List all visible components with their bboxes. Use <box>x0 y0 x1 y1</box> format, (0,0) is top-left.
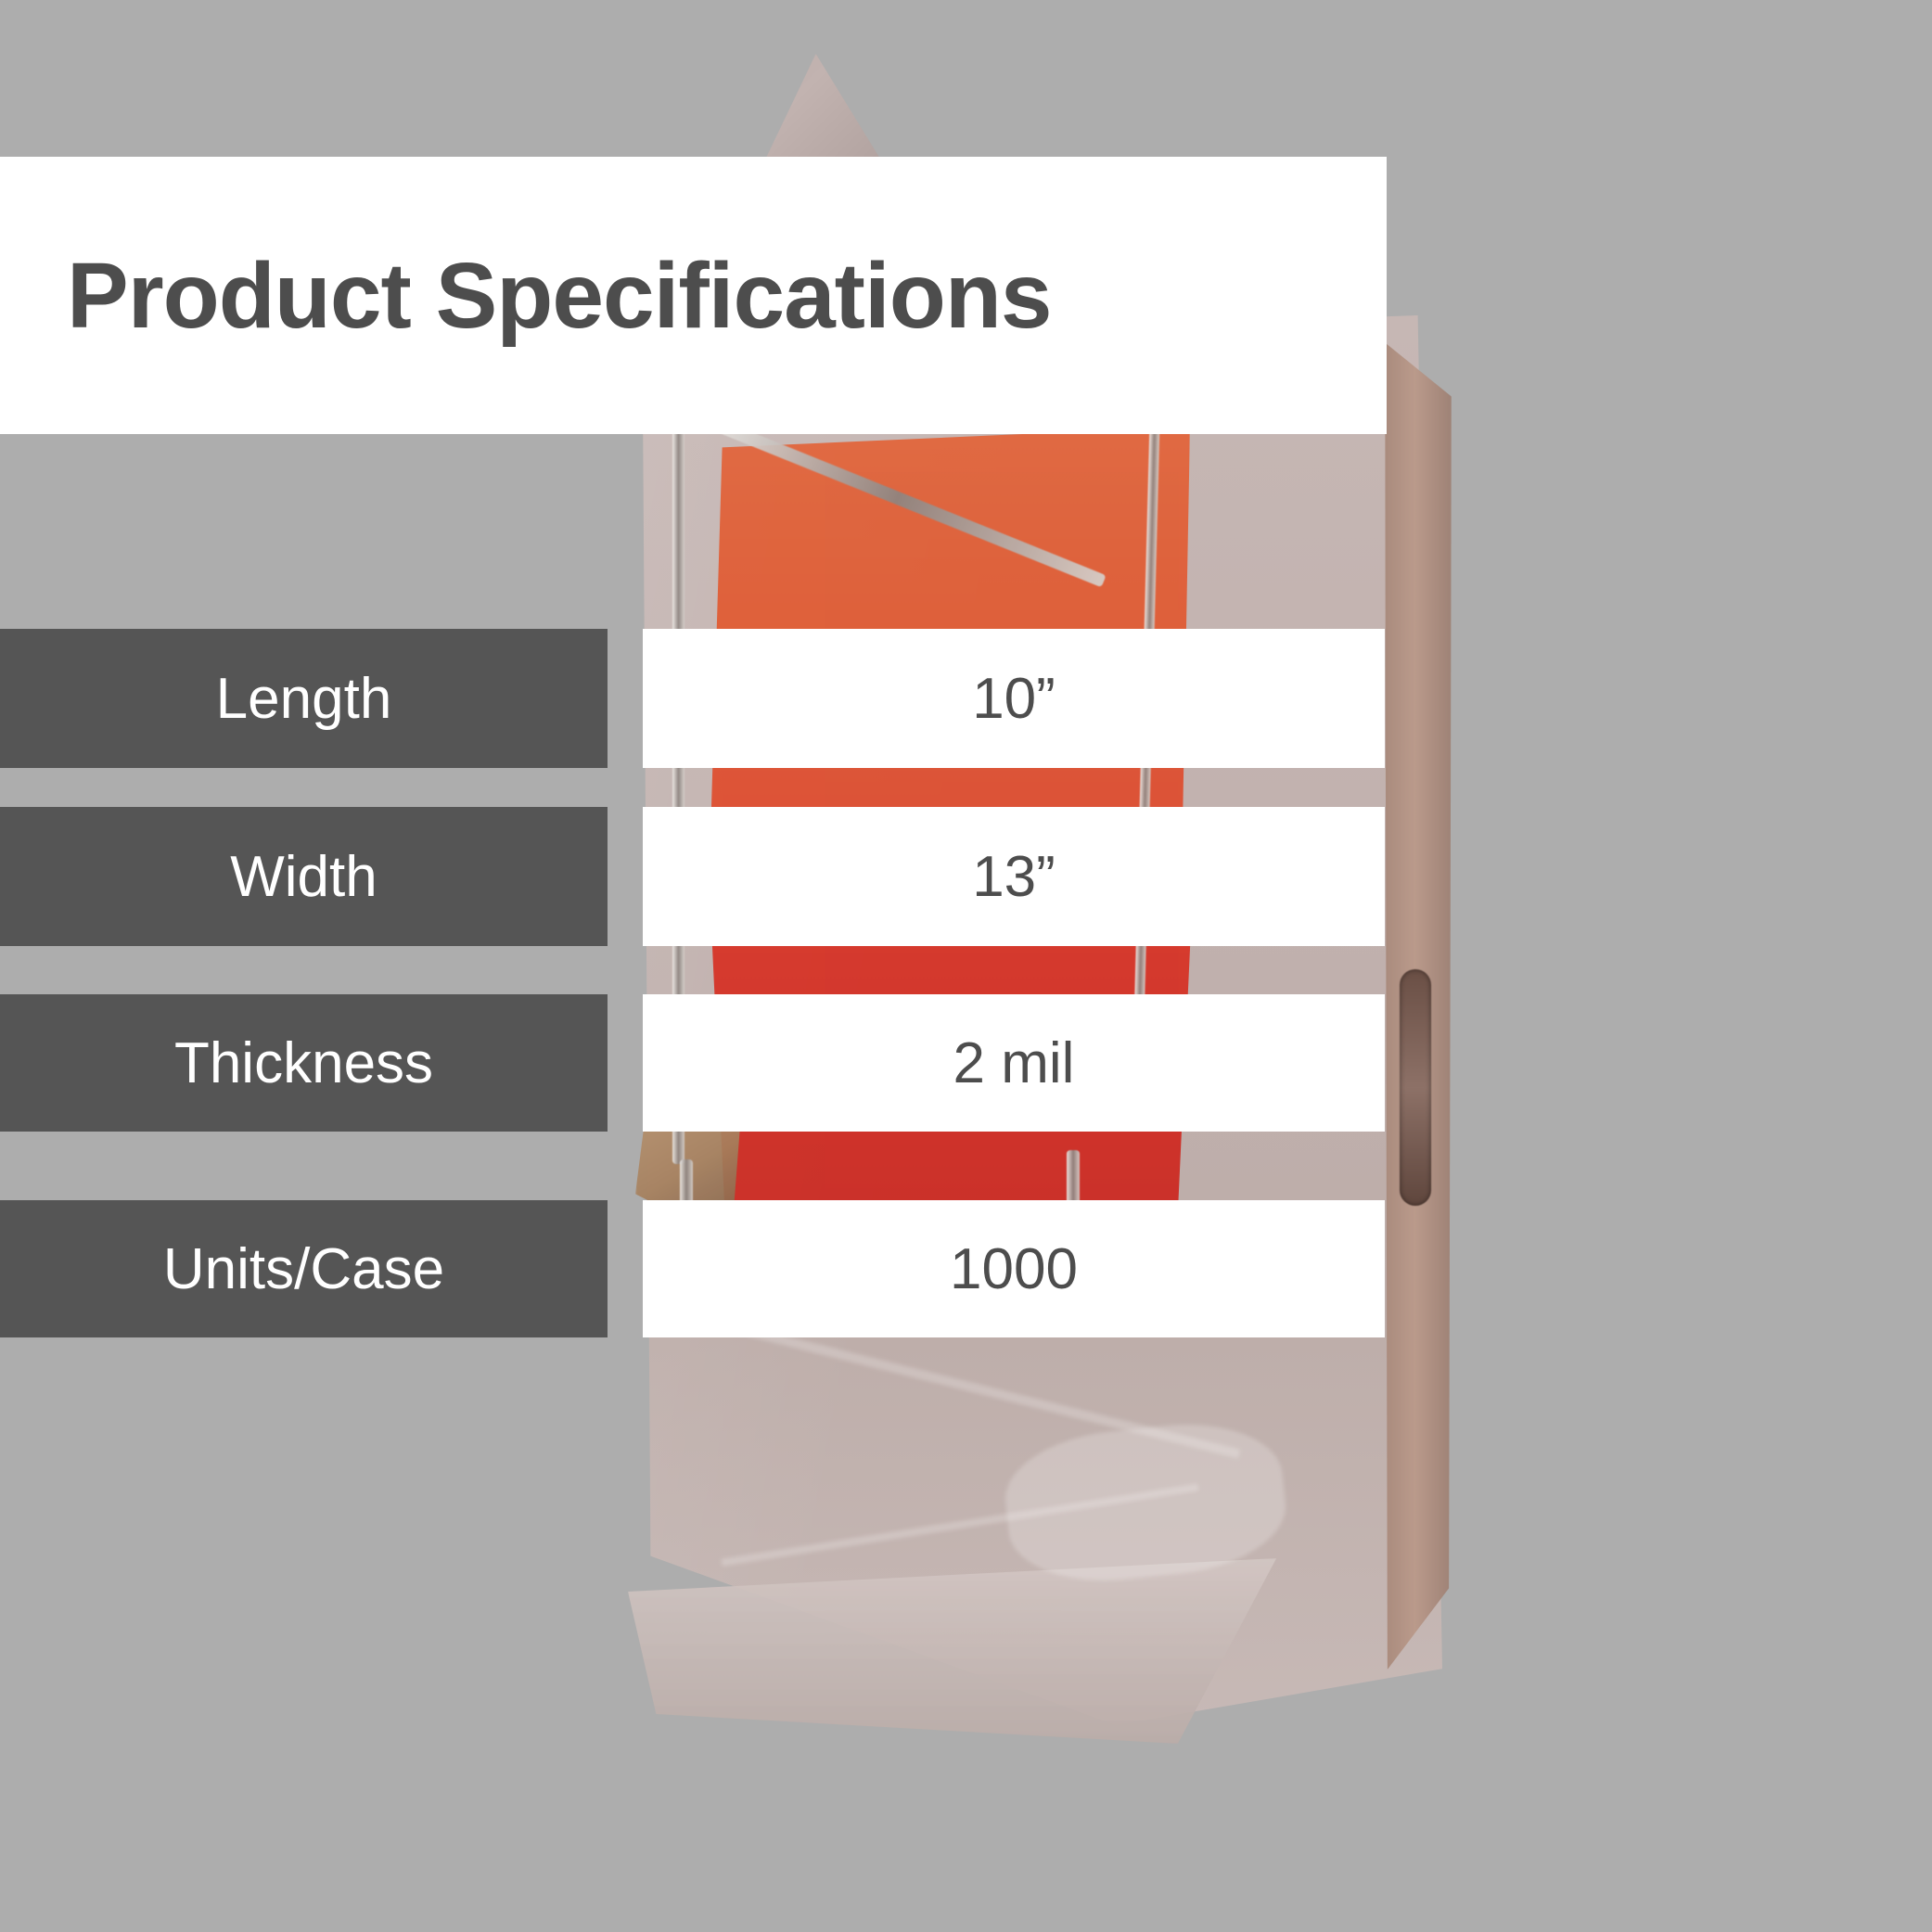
spec-label-units-per-case: Units/Case <box>0 1200 608 1337</box>
spec-value-width: 13” <box>643 807 1385 946</box>
spec-label-width: Width <box>0 807 608 946</box>
page-title: Product Specifications <box>67 249 1052 342</box>
spec-label-thickness: Thickness <box>0 994 608 1132</box>
spec-value-thickness: 2 mil <box>643 994 1385 1132</box>
bag-handle-slot <box>1400 969 1431 1206</box>
spec-row-width: Width 13” <box>0 807 1387 946</box>
spec-row-length: Length 10” <box>0 629 1387 768</box>
product-spec-card: Product Specifications Length 10” Width … <box>0 0 1932 1932</box>
spec-value-units-per-case: 1000 <box>643 1200 1385 1337</box>
title-banner: Product Specifications <box>0 157 1387 434</box>
spec-row-units-per-case: Units/Case 1000 <box>0 1200 1387 1337</box>
spec-value-length: 10” <box>643 629 1385 768</box>
spec-row-thickness: Thickness 2 mil <box>0 994 1387 1132</box>
spec-label-length: Length <box>0 629 608 768</box>
